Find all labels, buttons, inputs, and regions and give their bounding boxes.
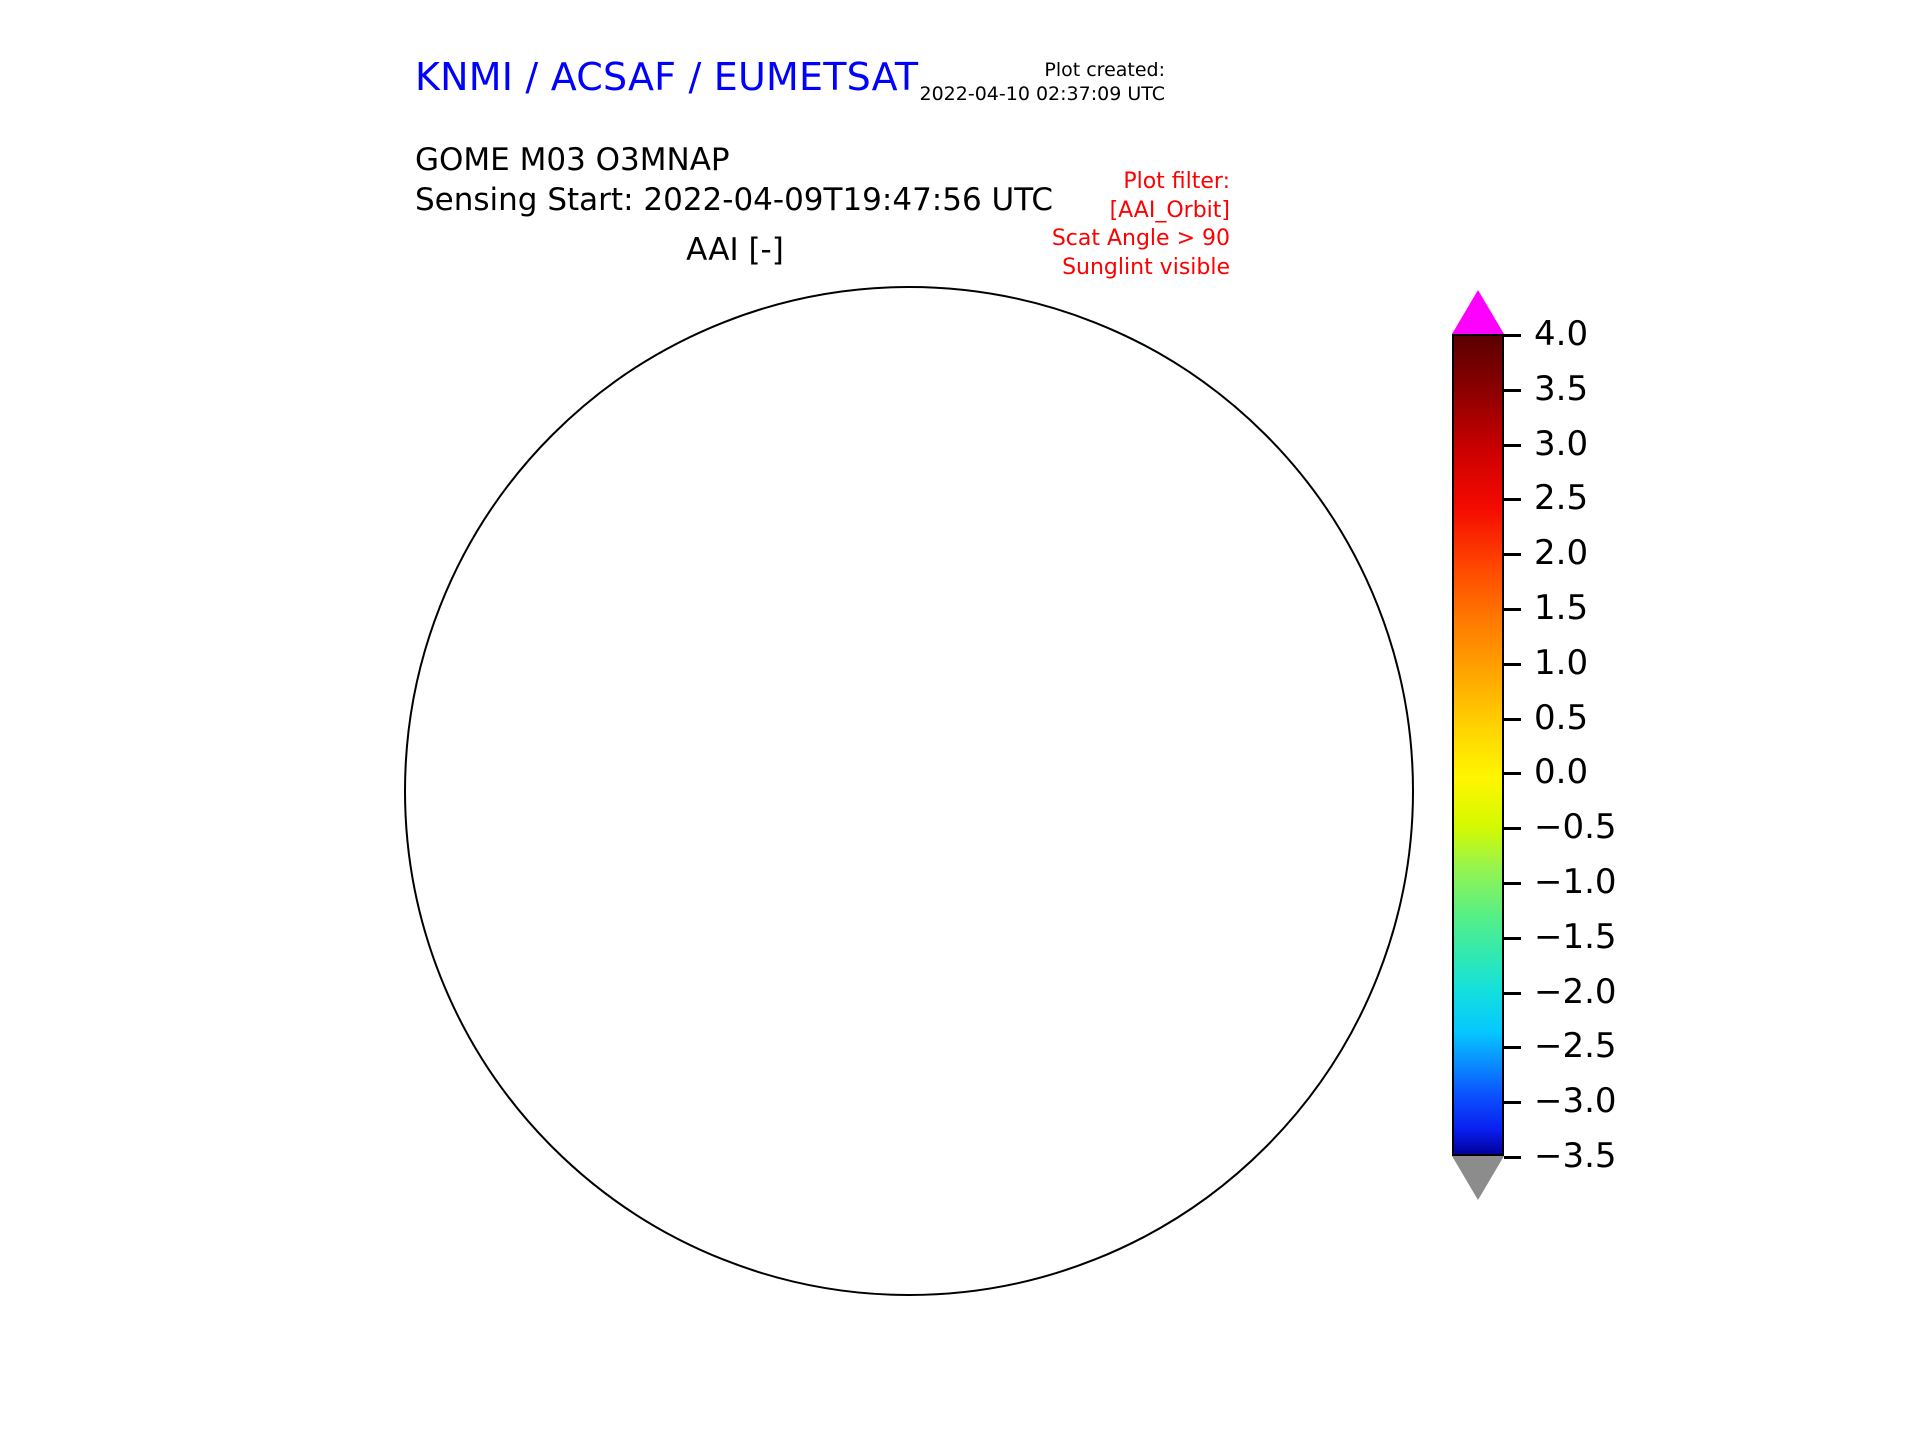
colorbar-gradient bbox=[1452, 334, 1504, 1156]
product-info-block: GOME M03 O3MNAP Sensing Start: 2022-04-0… bbox=[415, 140, 1053, 221]
colorbar-tick-label: 3.0 bbox=[1534, 424, 1588, 464]
plot-filter-block: Plot filter: [AAI_Orbit] Scat Angle > 90… bbox=[1052, 168, 1230, 282]
colorbar-tick bbox=[1504, 498, 1521, 501]
colorbar-tick-label: 0.0 bbox=[1534, 752, 1588, 792]
plot-created-timestamp: 2022-04-10 02:37:09 UTC bbox=[920, 82, 1166, 106]
colorbar-tick-label: −1.5 bbox=[1534, 917, 1617, 957]
colorbar: 4.03.53.02.52.01.51.00.50.0−0.5−1.0−1.5−… bbox=[1452, 290, 1782, 1310]
colorbar-tick-label: −3.5 bbox=[1534, 1136, 1617, 1176]
plot-filter-line-3: Sunglint visible bbox=[1052, 254, 1230, 283]
colorbar-tick bbox=[1504, 608, 1521, 611]
colorbar-tick bbox=[1504, 389, 1521, 392]
colorbar-tick bbox=[1504, 1046, 1521, 1049]
colorbar-under-arrow bbox=[1452, 1156, 1504, 1200]
plot-created-label: Plot created: bbox=[920, 58, 1166, 82]
colorbar-tick-label: 4.0 bbox=[1534, 314, 1588, 354]
plot-filter-line-1: [AAI_Orbit] bbox=[1052, 197, 1230, 226]
colorbar-tick bbox=[1504, 718, 1521, 721]
colorbar-tick bbox=[1504, 444, 1521, 447]
colorbar-over-arrow bbox=[1452, 290, 1504, 334]
colorbar-tick-label: −2.5 bbox=[1534, 1026, 1617, 1066]
plot-filter-line-2: Scat Angle > 90 bbox=[1052, 225, 1230, 254]
colorbar-tick bbox=[1504, 334, 1521, 337]
colorbar-tick-label: 2.0 bbox=[1534, 533, 1588, 573]
colorbar-tick-label: 2.5 bbox=[1534, 478, 1588, 518]
colorbar-tick bbox=[1504, 772, 1521, 775]
colorbar-tick bbox=[1504, 1101, 1521, 1104]
colorbar-tick bbox=[1504, 992, 1521, 995]
colorbar-tick-label: −1.0 bbox=[1534, 862, 1617, 902]
colorbar-tick-label: 0.5 bbox=[1534, 698, 1588, 738]
globe-outline bbox=[404, 286, 1414, 1296]
colorbar-tick-label: −0.5 bbox=[1534, 807, 1617, 847]
colorbar-tick bbox=[1504, 882, 1521, 885]
organisation-title: KNMI / ACSAF / EUMETSAT bbox=[415, 55, 918, 99]
colorbar-tick bbox=[1504, 553, 1521, 556]
plot-filter-line-0: Plot filter: bbox=[1052, 168, 1230, 197]
colorbar-tick-label: 3.5 bbox=[1534, 369, 1588, 409]
colorbar-tick bbox=[1504, 937, 1521, 940]
plot-created-block: Plot created: 2022-04-10 02:37:09 UTC bbox=[920, 58, 1166, 107]
colorbar-tick-label: 1.0 bbox=[1534, 643, 1588, 683]
colorbar-tick-label: −3.0 bbox=[1534, 1081, 1617, 1121]
colorbar-tick-label: 1.5 bbox=[1534, 588, 1588, 628]
quantity-title: AAI [-] bbox=[0, 232, 1470, 268]
colorbar-tick-label: −2.0 bbox=[1534, 972, 1617, 1012]
map-plot-area bbox=[404, 286, 1414, 1296]
product-name: GOME M03 O3MNAP bbox=[415, 140, 1053, 180]
colorbar-tick bbox=[1504, 663, 1521, 666]
colorbar-tick bbox=[1504, 827, 1521, 830]
colorbar-tick bbox=[1504, 1156, 1521, 1159]
sensing-start: Sensing Start: 2022-04-09T19:47:56 UTC bbox=[415, 180, 1053, 220]
